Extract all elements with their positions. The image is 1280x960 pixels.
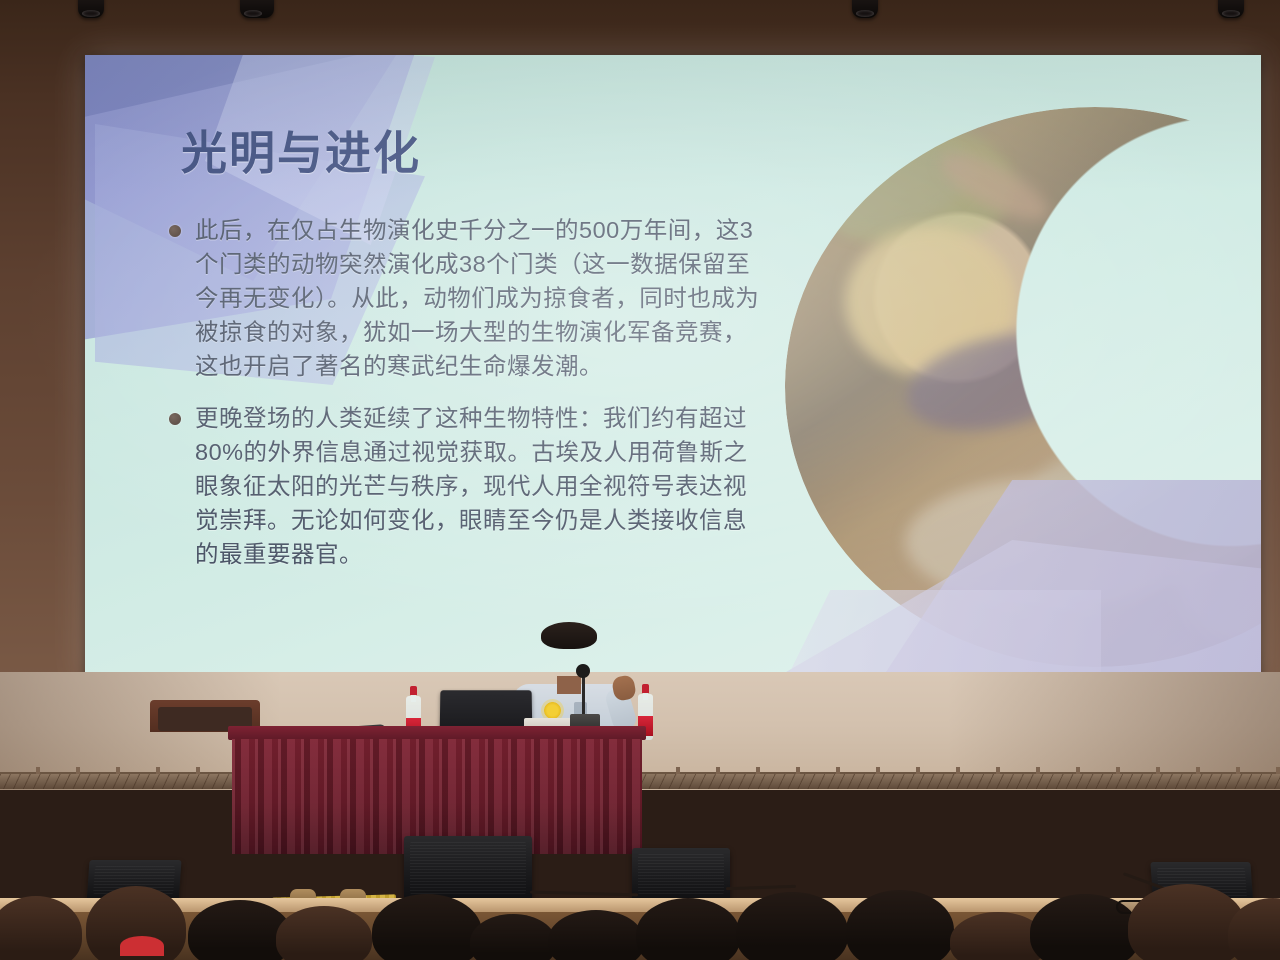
projection-screen[interactable]: 光明与进化 此后，在仅占生物演化史千分之一的500万年间，这3个门类的动物突然演… [85,55,1261,680]
list-item: 此后，在仅占生物演化史千分之一的500万年间，这3个门类的动物突然演化成38个门… [169,213,769,383]
ceiling-spotlight-icon [240,0,274,18]
ceiling-spotlight-icon [1218,0,1244,18]
microphone-icon [576,664,590,678]
slide-bullet-list: 此后，在仅占生物演化史千分之一的500万年间，这3个门类的动物突然演化成38个门… [169,213,769,589]
shirt-sun-logo-icon [544,702,561,719]
auditorium-room: 光明与进化 此后，在仅占生物演化史千分之一的500万年间，这3个门类的动物突然演… [0,0,1280,960]
bullet-text: 此后，在仅占生物演化史千分之一的500万年间，这3个门类的动物突然演化成38个门… [195,213,769,383]
list-item: 更晚登场的人类延续了这种生物特性：我们约有超过80%的外界信息通过视觉获取。古埃… [169,401,769,571]
crescent-photo-ring [785,107,1261,667]
desk-microphone-stem [582,672,585,718]
ceiling-spotlight-icon [78,0,104,18]
bullet-dot-icon [169,413,181,425]
bullet-dot-icon [169,225,181,237]
presenter-table [228,726,646,854]
audience-row [0,880,1280,960]
ceiling-spotlight-icon [852,0,878,18]
bullet-text: 更晚登场的人类延续了这种生物特性：我们约有超过80%的外界信息通过视觉获取。古埃… [195,401,769,571]
slide-title: 光明与进化 [181,117,421,183]
